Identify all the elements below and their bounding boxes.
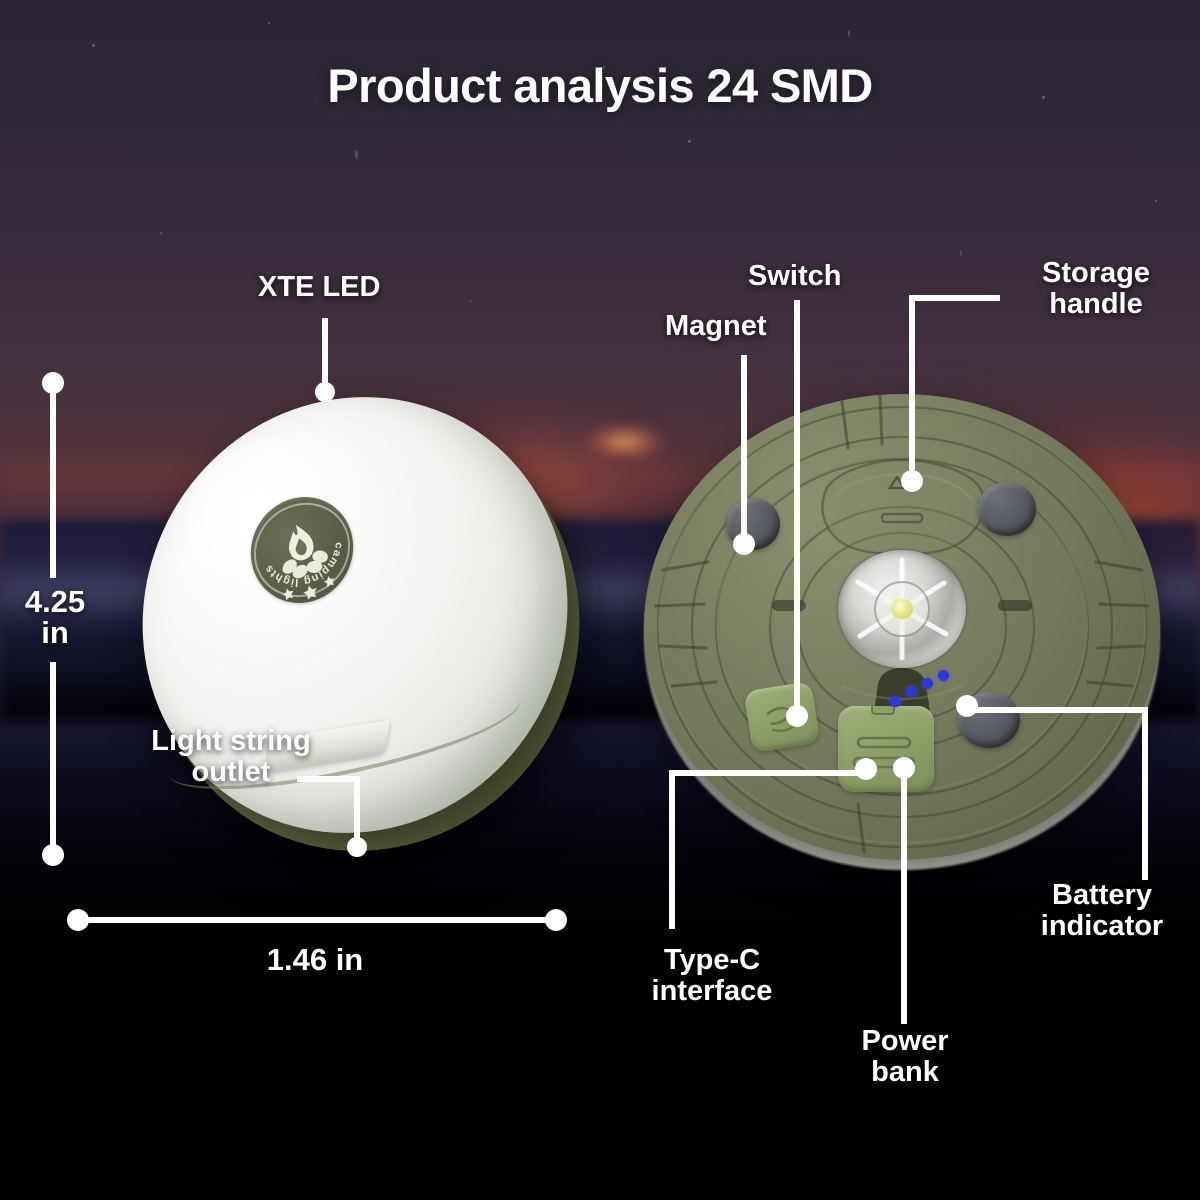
- magnet-upper-left: [726, 498, 780, 550]
- led-emitter-chip: [891, 599, 913, 619]
- infographic-canvas: Product analysis 24 SMD camping lights: [0, 0, 1200, 1200]
- callout-label-switch: Switch: [748, 261, 841, 292]
- page-title: Product analysis 24 SMD: [0, 58, 1200, 113]
- callout-label-magnet: Magnet: [665, 311, 767, 342]
- lantern-white-diffuser: [97, 343, 613, 886]
- callout-label-power-bank: Power bank: [841, 1026, 969, 1088]
- callout-label-type-c-interface: Type-C interface: [628, 945, 796, 1007]
- magnet-upper-right: [978, 482, 1036, 536]
- product-right-olive-lantern: [640, 390, 1170, 880]
- dimension-label-width: 1.46 in: [185, 944, 445, 975]
- callout-label-light-string-outlet: Light string outlet: [151, 726, 311, 788]
- product-left-white-lantern: camping lights: [112, 378, 612, 878]
- center-led-reflector: [838, 550, 966, 668]
- switch-rubber-cover: [744, 681, 821, 753]
- dimension-label-height: 4.25 in: [13, 586, 97, 648]
- callout-label-battery-indicator: Battery indicator: [1008, 880, 1196, 942]
- type-c-power-bank-cover: [838, 706, 934, 792]
- callout-label-xte-led: XTE LED: [258, 272, 380, 303]
- callout-label-storage-handle: Storage handle: [1006, 258, 1186, 320]
- magnet-lower-right: [958, 692, 1020, 748]
